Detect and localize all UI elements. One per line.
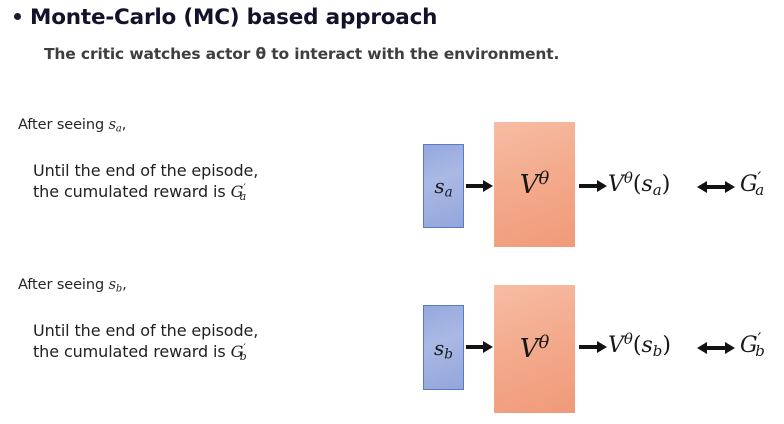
value-arg-sub-a: a bbox=[653, 181, 662, 199]
value-fn-b: V bbox=[608, 333, 624, 358]
state-box-label-b: sb bbox=[434, 336, 453, 360]
bullet-dot-icon bbox=[14, 13, 21, 20]
value-paren-close-a: ) bbox=[662, 172, 671, 197]
target-sub-a: a bbox=[755, 181, 764, 199]
after-seeing-suffix-a: , bbox=[122, 117, 127, 133]
until-line-1-b: Until the end of the episode, bbox=[33, 320, 258, 341]
arrow-critic-to-output-b bbox=[579, 345, 598, 349]
until-line-2-prefix-a: the cumulated reward is bbox=[33, 182, 231, 201]
state-box-b[interactable]: sb bbox=[423, 305, 464, 390]
page-title: Monte-Carlo (MC) based approach bbox=[30, 6, 437, 30]
value-fn-a: V bbox=[608, 172, 624, 197]
return-subscript-b: b bbox=[240, 350, 247, 363]
value-paren-open-b: ( bbox=[633, 333, 642, 358]
slide-canvas: Monte-Carlo (MC) based approach The crit… bbox=[0, 0, 784, 424]
value-fn-theta-b: θ bbox=[624, 330, 633, 348]
return-target-expression-a: G′a bbox=[740, 172, 764, 197]
until-line-1-a: Until the end of the episode, bbox=[33, 160, 258, 181]
arrow-compare-b bbox=[706, 346, 726, 350]
value-paren-open-a: ( bbox=[633, 172, 642, 197]
arrow-state-to-critic-a bbox=[466, 184, 484, 188]
critic-box-label-b: Vθ bbox=[520, 334, 549, 364]
arrow-compare-a bbox=[706, 185, 726, 189]
after-seeing-state-symbol-a: s bbox=[109, 117, 116, 133]
value-arg-b: s bbox=[642, 333, 653, 358]
arrow-critic-to-output-a bbox=[579, 184, 598, 188]
subtitle: The critic watches actor θ to interact w… bbox=[44, 45, 559, 63]
until-line-2-b: the cumulated reward is G′b bbox=[33, 341, 258, 362]
arrow-state-to-critic-b bbox=[466, 345, 484, 349]
state-box-label-a: sa bbox=[434, 174, 452, 198]
value-fn-theta-a: θ bbox=[624, 169, 633, 187]
critic-box-label-a: Vθ bbox=[520, 170, 549, 200]
after-seeing-label-b: After seeing sb, bbox=[18, 277, 127, 293]
target-sub-b: b bbox=[755, 342, 765, 360]
return-subscript-a: a bbox=[240, 190, 246, 203]
value-output-expression-a: Vθ(sa) bbox=[608, 172, 670, 197]
state-box-a[interactable]: sa bbox=[423, 144, 464, 228]
after-seeing-state-symbol-b: s bbox=[109, 277, 116, 293]
value-output-expression-b: Vθ(sb) bbox=[608, 333, 671, 358]
after-seeing-prefix-b: After seeing bbox=[18, 277, 109, 293]
critic-box-a[interactable]: Vθ bbox=[494, 122, 575, 247]
after-seeing-suffix-b: , bbox=[122, 277, 127, 293]
cumulated-reward-text-a: Until the end of the episode, the cumula… bbox=[33, 160, 258, 203]
value-arg-sub-b: b bbox=[653, 342, 663, 360]
after-seeing-label-a: After seeing sa, bbox=[18, 117, 126, 133]
return-target-expression-b: G′b bbox=[740, 333, 765, 358]
until-line-2-prefix-b: the cumulated reward is bbox=[33, 342, 231, 361]
critic-box-b[interactable]: Vθ bbox=[494, 285, 575, 413]
after-seeing-prefix-a: After seeing bbox=[18, 117, 109, 133]
cumulated-reward-text-b: Until the end of the episode, the cumula… bbox=[33, 320, 258, 363]
heading-bullet-line: Monte-Carlo (MC) based approach bbox=[14, 6, 437, 30]
until-line-2-a: the cumulated reward is G′a bbox=[33, 181, 258, 202]
value-arg-a: s bbox=[642, 172, 653, 197]
value-paren-close-b: ) bbox=[662, 333, 671, 358]
